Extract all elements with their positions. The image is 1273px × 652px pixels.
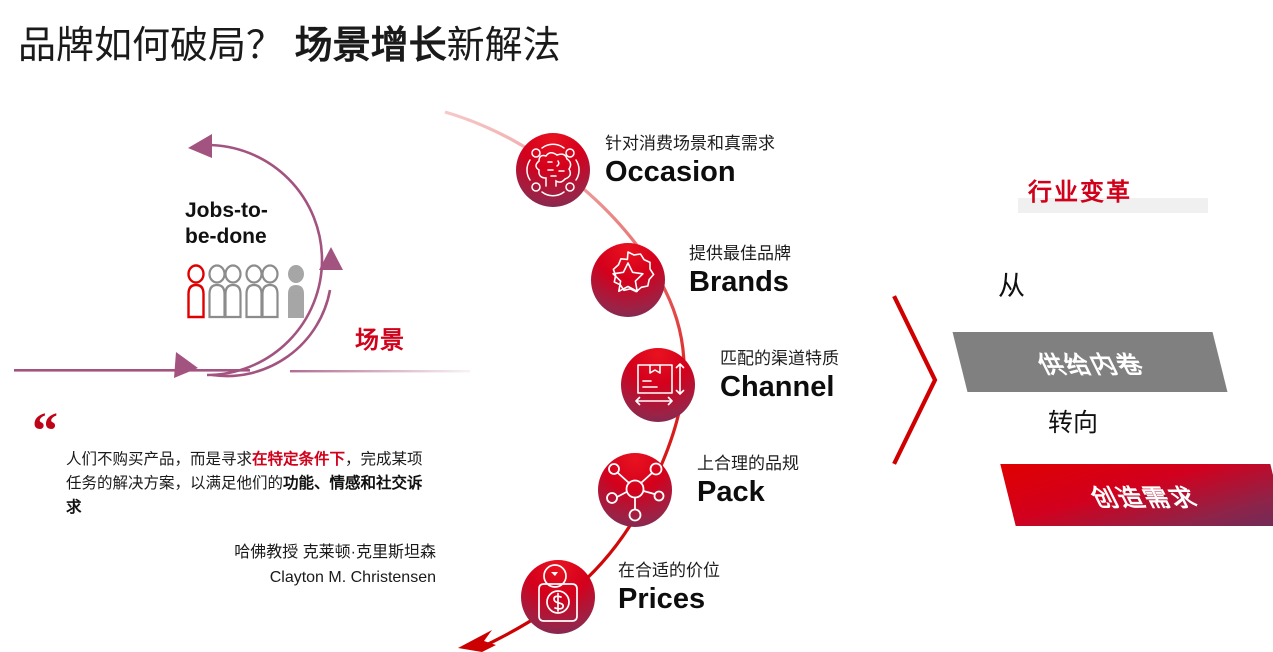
shift-to-box[interactable]: 创造需求 bbox=[1000, 464, 1273, 526]
quote-line3-a: 们的 bbox=[252, 475, 283, 492]
jtbd-heading-line1: Jobs-to- bbox=[185, 198, 345, 224]
chevron-right-arrow-icon bbox=[890, 290, 950, 470]
chain-node-brands[interactable] bbox=[591, 243, 665, 317]
jobs-to-be-done-diagram: Jobs-to- be-done bbox=[0, 120, 470, 410]
quote-line2-highlight: 下 bbox=[330, 451, 346, 468]
chain-main-pack: Pack bbox=[697, 475, 799, 509]
jtbd-heading-line2: be-done bbox=[185, 224, 345, 250]
page-title-part1: 品牌如何破局？ bbox=[18, 25, 295, 67]
industry-shift-panel: 行业变革 从 供给内卷 转向 创造需求 bbox=[900, 150, 1273, 570]
chain-node-pack[interactable] bbox=[598, 453, 672, 527]
chain-label-occasion: 针对消费场景和真需求 Occasion bbox=[605, 133, 775, 189]
page-title: 品牌如何破局？ 场景增长新解法 bbox=[18, 22, 561, 70]
jtbd-heading: Jobs-to- be-done bbox=[185, 198, 345, 250]
divider-line-left bbox=[14, 369, 250, 372]
growth-chain-diagram: 针对消费场景和真需求 Occasion 提供最佳品牌 Brands 匹配的渠道特… bbox=[440, 100, 910, 652]
chain-label-prices: 在合适的价位 Prices bbox=[618, 560, 720, 616]
chain-sub-pack: 上合理的品规 bbox=[697, 453, 799, 475]
chain-main-occasion: Occasion bbox=[605, 155, 775, 189]
arrow-head-top-icon bbox=[188, 134, 212, 158]
slide-canvas: 品牌如何破局？ 场景增长新解法 bbox=[0, 0, 1273, 652]
chain-node-channel[interactable] bbox=[621, 348, 695, 422]
quote-attribution-cn: 哈佛教授 克莱顿·克里斯坦森 bbox=[66, 540, 436, 565]
chain-sub-brands: 提供最佳品牌 bbox=[689, 243, 791, 265]
shift-from-box-text: 供给内卷 bbox=[945, 332, 1235, 392]
shift-from-label: 从 bbox=[998, 270, 1025, 302]
shift-from-box[interactable]: 供给内卷 bbox=[953, 332, 1228, 392]
chain-sub-prices: 在合适的价位 bbox=[618, 560, 720, 582]
chain-sub-channel: 匹配的渠道特质 bbox=[720, 348, 839, 370]
quote-text: 人们不购买产品，而是寻求在特定条件下，完成某项任务的解决方案，以满足他们的功能、… bbox=[66, 448, 436, 520]
quote-line1-a: 人们不购买产品，而是寻求 bbox=[66, 451, 252, 468]
quote-line1-highlight: 在特定条件 bbox=[252, 451, 330, 468]
scene-label: 场景 bbox=[355, 320, 405, 355]
chain-main-channel: Channel bbox=[720, 370, 839, 404]
page-title-part3: 新解法 bbox=[447, 25, 561, 67]
chain-label-pack: 上合理的品规 Pack bbox=[697, 453, 799, 509]
chain-label-brands: 提供最佳品牌 Brands bbox=[689, 243, 791, 299]
chain-main-brands: Brands bbox=[689, 265, 791, 299]
quote-attribution: 哈佛教授 克莱顿·克里斯坦森 Clayton M. Christensen bbox=[66, 540, 436, 590]
chain-sub-occasion: 针对消费场景和真需求 bbox=[605, 133, 775, 155]
shift-to-box-text: 创造需求 bbox=[993, 464, 1273, 526]
shift-title: 行业变革 bbox=[1028, 172, 1132, 207]
chain-label-channel: 匹配的渠道特质 Channel bbox=[720, 348, 839, 404]
chain-node-occasion[interactable] bbox=[516, 133, 590, 207]
quote-attribution-en: Clayton M. Christensen bbox=[66, 565, 436, 590]
chain-arrow-head-icon bbox=[458, 630, 496, 652]
chain-node-prices[interactable] bbox=[521, 560, 595, 634]
quote-mark-icon: “ bbox=[32, 412, 58, 452]
page-title-part2: 场景增长 bbox=[295, 25, 447, 67]
arrow-head-bottom-icon bbox=[174, 352, 198, 378]
people-group-icon bbox=[184, 263, 314, 321]
shift-to-label: 转向 bbox=[1048, 408, 1098, 438]
chain-main-prices: Prices bbox=[618, 582, 720, 616]
